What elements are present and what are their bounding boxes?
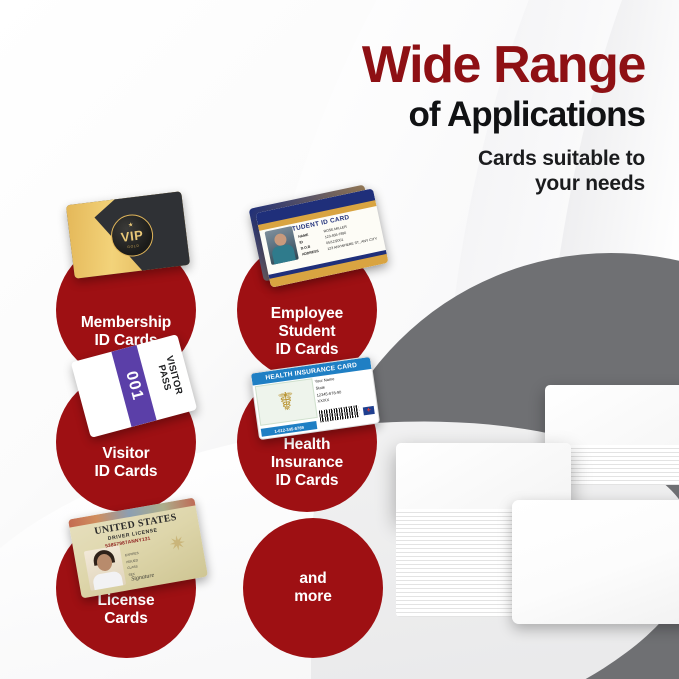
subheadline-line-2: your needs (225, 171, 645, 197)
license-photo-body (92, 570, 123, 591)
flag-icon: ✚ (363, 406, 375, 415)
health-card-phone: 1-012-345-6789 (274, 424, 304, 433)
vip-emblem-title: VIP (120, 228, 144, 244)
category-label-health-insurance: Health Insurance ID Cards (271, 436, 343, 491)
visitor-pass-label: VISITOR PASS (154, 355, 184, 399)
vip-membership-card: ★ VIP GOLD (66, 191, 190, 279)
category-label-visitor: Visitor ID Cards (95, 445, 158, 482)
category-label-and-more: and more (294, 570, 332, 607)
headline-block: Wide Range of Applications Cards suitabl… (225, 40, 645, 197)
blank-card-front (512, 500, 679, 624)
vip-emblem-subtitle: GOLD (127, 244, 140, 249)
subheadline-line-1: Cards suitable to (225, 146, 645, 172)
category-circle-and-more[interactable]: and more (243, 518, 383, 658)
flag-cross: ✚ (366, 408, 371, 414)
category-label-license: License Cards (97, 592, 154, 629)
headline-secondary: of Applications (225, 97, 645, 134)
barcode (319, 405, 360, 422)
health-card-emblem-area: ☤ (255, 378, 318, 426)
hologram-star-icon: ✷ (168, 533, 188, 556)
student-photo-body (271, 243, 296, 265)
health-card-fields: Your Name State 12345-678-90 XX/XX (314, 375, 342, 405)
promo-banner: Wide Range of Applications Cards suitabl… (0, 0, 679, 679)
visitor-number-text: 001 (121, 369, 146, 402)
category-label-employee-student: Employee Student ID Cards (271, 305, 343, 360)
subheadline: Cards suitable to your needs (225, 146, 645, 197)
caduceus-icon: ☤ (276, 388, 296, 415)
headline-primary: Wide Range (225, 40, 645, 91)
license-photo (84, 545, 126, 591)
